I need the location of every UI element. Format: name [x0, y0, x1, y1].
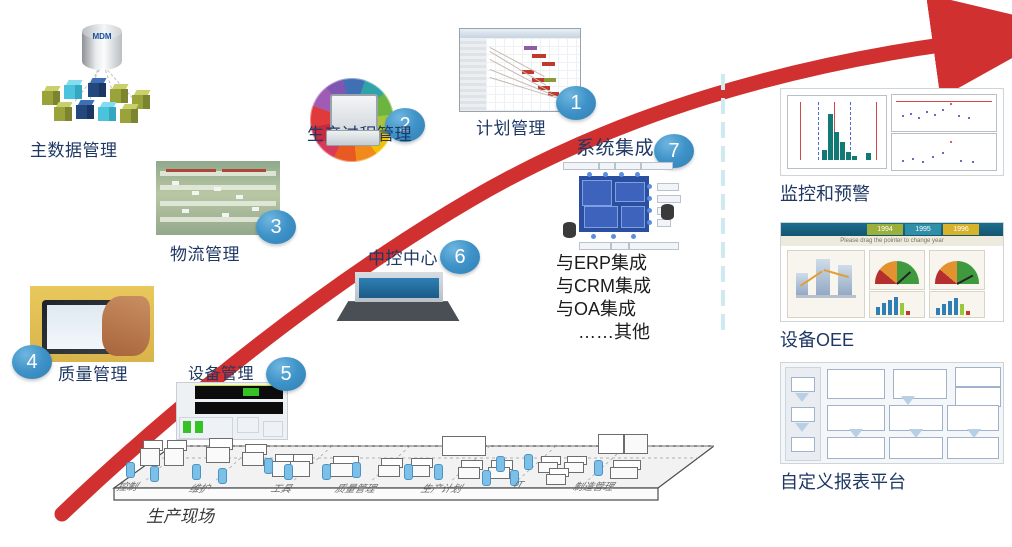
diagram-canvas: MDM 主数据管理 2 生产过程管理 3 物流管理: [0, 0, 1012, 547]
badge-6[interactable]: 6: [440, 240, 480, 274]
shopfloor-scene-label: 生产现场: [146, 502, 214, 527]
custom-report-platform-panel[interactable]: [780, 362, 1004, 464]
oee-card-monthly-revenue: [869, 291, 925, 318]
oee-hint: Please drag the pointer to change year: [781, 236, 1003, 246]
dashboard-title-oee: 设备OEE: [780, 326, 854, 352]
module-label-quality: 质量管理: [58, 360, 128, 385]
mdm-hierarchy-icon: MDM: [36, 22, 156, 134]
oee-card-avg-order-qty: [929, 250, 985, 290]
integration-item-crm: 与CRM集成: [556, 275, 651, 298]
badge-3[interactable]: 3: [256, 210, 296, 244]
tablet-inspection-icon: [30, 286, 154, 362]
integration-heading: 系统集成: [576, 133, 654, 160]
module-label-equipment: 设备管理: [188, 360, 254, 384]
spc-monitoring-panel[interactable]: [780, 88, 1004, 176]
module-label-logistics: 物流管理: [170, 240, 240, 265]
capability-histogram: [787, 95, 887, 169]
mdm-label: MDM: [82, 32, 122, 41]
control-room-icon: [339, 268, 457, 328]
dashboard-title-monitor: 监控和预警: [780, 180, 870, 206]
year-tab-1995[interactable]: 1995: [905, 224, 941, 235]
integration-item-erp: 与ERP集成: [556, 252, 651, 275]
shopfloor-zone-manufacturing: 制造管理: [571, 478, 617, 493]
moving-range-chart: [891, 133, 997, 171]
oee-dashboard-panel[interactable]: 1994 1995 1996 Please drag the pointer t…: [780, 222, 1004, 322]
dashboard-title-report: 自定义报表平台: [780, 468, 906, 494]
module-label-control: 中控中心: [368, 244, 438, 269]
shopfloor-zone-quality: 质量管理: [333, 480, 379, 495]
individuals-control-chart: [891, 94, 997, 132]
oee-card-monthly-qty: [929, 291, 985, 318]
integration-item-more: ……其他: [556, 321, 651, 344]
integration-item-oa: 与OA集成: [556, 298, 651, 321]
oee-card-sales: [787, 250, 865, 318]
shopfloor-zone-planning: 生产计划: [419, 480, 465, 495]
oee-card-avg-order-value: [869, 250, 925, 290]
badge-4[interactable]: 4: [12, 345, 52, 379]
module-label-plan: 计划管理: [476, 114, 546, 139]
integration-list: 与ERP集成 与CRM集成 与OA集成 ……其他: [556, 252, 651, 344]
badge-5[interactable]: 5: [266, 357, 306, 391]
shopfloor-diagram: 控制 维护 工具 质量管理 生产计划 IT 制造管理 生产现场: [86, 432, 714, 522]
badge-1[interactable]: 1: [556, 86, 596, 120]
module-label-mdm: 主数据管理: [30, 136, 118, 161]
year-tab-1994[interactable]: 1994: [867, 224, 903, 235]
year-tab-1996[interactable]: 1996: [943, 224, 979, 235]
section-divider: [721, 74, 725, 332]
integration-topology-icon: [561, 160, 679, 252]
